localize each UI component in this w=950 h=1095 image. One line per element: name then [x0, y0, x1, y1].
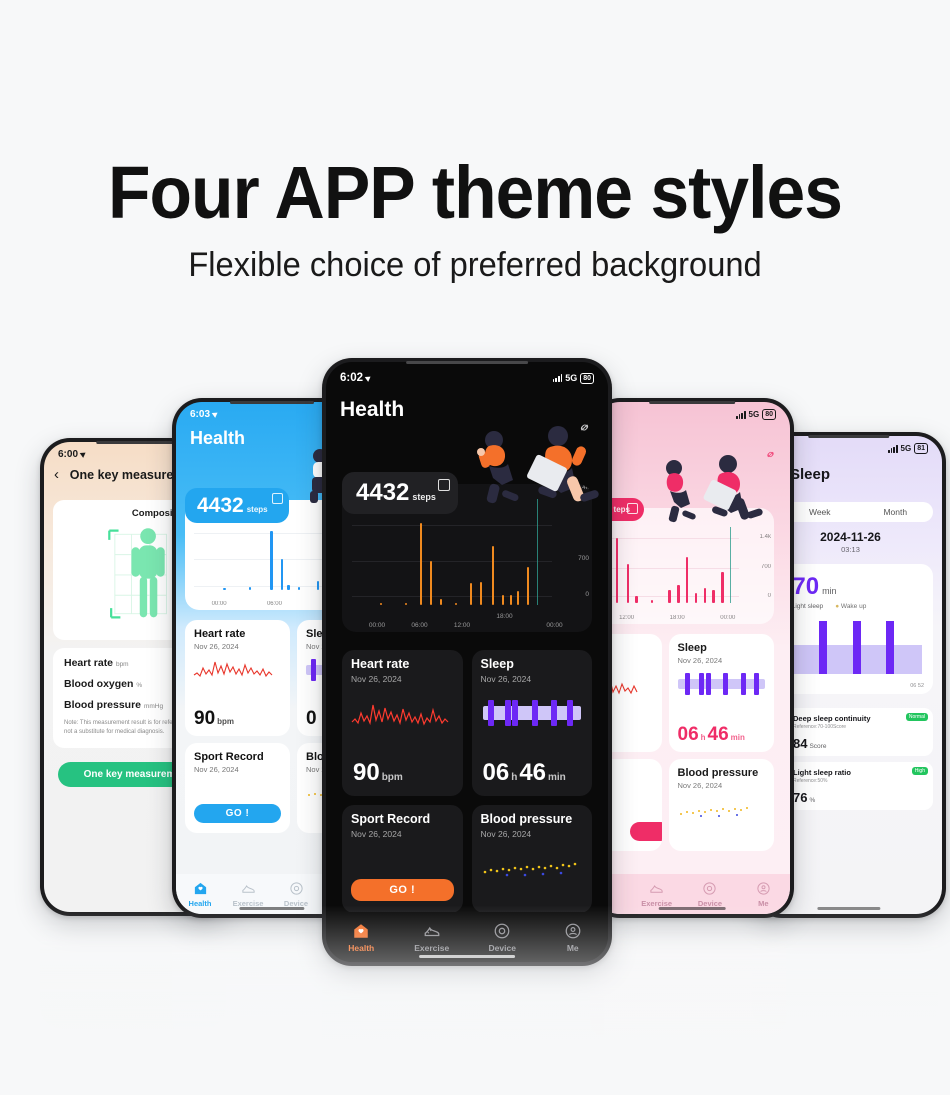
battery-badge: 80 — [580, 373, 594, 384]
sleep-value: 06 h 46 min — [678, 725, 745, 744]
chart-x-label: 06 52 — [910, 683, 924, 689]
status-right: 5G 81 — [888, 443, 928, 454]
earpiece-speaker — [406, 361, 528, 364]
tab-exercise[interactable]: Exercise — [224, 881, 272, 908]
location-icon — [80, 450, 88, 458]
shoe-icon — [241, 881, 256, 896]
card-sport-record[interactable]: Sport Record Nov 26, 2024 GO ! — [185, 743, 290, 833]
card-blood-pressure[interactable]: Blood pressure Nov 26, 2024 — [669, 759, 775, 851]
y-tick: 1.4k — [760, 534, 771, 540]
status-badge: Normal — [906, 713, 928, 721]
y-tick: 700 — [761, 564, 771, 570]
y-tick: 0 — [768, 593, 771, 599]
tab-me[interactable]: Me — [737, 881, 790, 908]
heart-rate-value: 90 bpm — [353, 761, 403, 785]
status-time: 6:00 — [58, 449, 78, 460]
tab-exercise[interactable]: Exercise — [630, 881, 683, 908]
status-right: 5G 80 — [736, 409, 776, 420]
x-tick: 00:00 — [720, 615, 735, 621]
stat-card-light-sleep-ratio[interactable]: Light sleep ratio Reference:50% 76 % Hig… — [786, 762, 933, 810]
tab-device[interactable]: Device — [467, 922, 538, 953]
reflection-purple — [752, 909, 938, 1029]
home-health-icon — [352, 922, 370, 940]
status-badge: High — [912, 767, 928, 775]
y-tick: 0 — [585, 591, 589, 598]
earpiece-speaker — [230, 401, 314, 404]
card-sport-record[interactable]: Sport Record Nov 26, 2024 GO ! — [342, 805, 463, 913]
status-time: 6:02 — [340, 372, 363, 384]
reflection-pink — [590, 911, 786, 1041]
status-right: 5G 80 — [553, 373, 594, 384]
phone-pink-theme: 5G 80 teps — [590, 398, 794, 918]
x-tick: 00:00 — [369, 622, 385, 629]
location-icon — [365, 374, 373, 382]
profile-icon — [756, 881, 771, 896]
x-tick: 00:00 — [546, 622, 562, 629]
promo-banner: Four APP theme styles Flexible choice of… — [0, 0, 950, 1095]
shoe-icon — [649, 881, 664, 896]
signal-icon — [888, 445, 897, 453]
reflection-dark — [322, 959, 604, 1095]
runners-illustration — [650, 454, 770, 532]
sleep-value: 06 h 46 min — [483, 761, 566, 785]
y-tick: 700 — [578, 555, 589, 562]
x-tick: 12:00 — [619, 615, 634, 621]
legend-wake-up: ● Wake up — [835, 603, 866, 610]
status-bar: 6:02 5G 80 — [326, 362, 608, 386]
tab-device[interactable]: Device — [683, 881, 736, 908]
export-icon[interactable] — [272, 493, 283, 504]
sleep-bars — [678, 672, 766, 696]
signal-icon — [736, 411, 745, 419]
sleep-stage-chart — [774, 620, 925, 676]
metric-card-grid: Sleep Nov 26, 2024 06 h 46 min — [594, 634, 774, 851]
page-title: Four APP theme styles — [29, 150, 922, 235]
steps-value: 4432 — [356, 481, 409, 505]
device-icon — [702, 881, 717, 896]
steps-unit: steps — [412, 492, 436, 502]
network-label: 5G — [749, 410, 760, 419]
phone-dark-theme: 6:02 5G 80 Health — [322, 358, 612, 966]
steps-pill[interactable]: 4432 steps — [342, 472, 458, 514]
x-tick: 06:00 — [411, 622, 427, 629]
card-blood-pressure[interactable]: Blood pressure Nov 26, 2024 — [472, 805, 593, 913]
home-health-icon — [193, 881, 208, 896]
card-sleep[interactable]: Sleep Nov 26, 2024 06 h 46 min — [472, 650, 593, 796]
status-time: 6:03 — [190, 409, 210, 420]
blood-pressure-scatter — [481, 859, 581, 879]
export-icon[interactable] — [627, 503, 638, 514]
steps-value: 4432 — [197, 495, 244, 516]
tab-exercise[interactable]: Exercise — [397, 922, 468, 953]
steps-pill[interactable]: 4432 steps — [185, 488, 289, 523]
profile-icon — [564, 922, 582, 940]
tab-device[interactable]: Device — [272, 881, 320, 908]
earpiece-speaker — [808, 435, 889, 438]
x-tick: 06:00 — [267, 601, 282, 607]
card-sleep[interactable]: Sleep Nov 26, 2024 06 h 46 min — [669, 634, 775, 752]
runners-illustration — [466, 424, 608, 516]
status-bar: 5G 80 — [594, 402, 790, 422]
page-subtitle: Flexible choice of preferred background — [19, 246, 931, 285]
card-heart-rate[interactable]: Heart rate Nov 26, 2024 90 bpm — [342, 650, 463, 796]
sleep-summary-card[interactable]: eep 70 min ● Light sleep ● Wake up 06 52 — [774, 564, 933, 694]
period-segmented-control[interactable]: Week Month — [782, 502, 933, 522]
sleep-summary-value: eep 70 min — [774, 564, 933, 601]
x-tick: 00:00 — [212, 601, 227, 607]
network-label: 5G — [901, 444, 912, 453]
sleep-legend: ● Light sleep ● Wake up — [774, 603, 933, 610]
app-title: Health — [326, 386, 608, 422]
device-icon — [289, 881, 304, 896]
tab-health[interactable]: Health — [326, 922, 397, 953]
reflection-beige — [40, 909, 226, 1029]
battery-badge: 81 — [914, 443, 928, 454]
go-button[interactable]: GO ! — [351, 879, 454, 901]
signal-icon — [553, 374, 562, 382]
stat-card-deep-sleep-continuity[interactable]: Deep sleep continuity Reference:70-100Sc… — [786, 708, 933, 756]
earpiece-speaker — [649, 401, 735, 404]
x-tick: 12:00 — [454, 622, 470, 629]
card-heart-rate[interactable]: Heart rate Nov 26, 2024 90 bpm — [185, 620, 290, 736]
metric-card-grid: Heart rate Nov 26, 2024 90 bpm Sleep Nov… — [342, 650, 592, 913]
x-tick: 18:00 — [670, 615, 685, 621]
segment-month[interactable]: Month — [858, 502, 934, 522]
tab-me[interactable]: Me — [538, 922, 609, 953]
battery-badge: 80 — [762, 409, 776, 420]
export-icon[interactable] — [438, 479, 450, 491]
device-icon — [493, 922, 511, 940]
network-label: 5G — [565, 373, 577, 383]
steps-unit: steps — [247, 505, 268, 514]
blood-pressure-scatter — [677, 803, 763, 819]
go-button[interactable]: GO ! — [194, 804, 281, 823]
sleep-bars — [483, 698, 582, 728]
location-icon — [212, 410, 220, 418]
x-tick: 18:00 — [496, 613, 512, 620]
tab-health[interactable]: Health — [176, 881, 224, 908]
earpiece-speaker — [96, 441, 177, 444]
heart-rate-value: 90 bpm — [194, 709, 234, 728]
heart-rate-sparkline — [193, 656, 273, 682]
shoe-icon — [423, 922, 441, 940]
heart-rate-sparkline — [351, 698, 449, 730]
